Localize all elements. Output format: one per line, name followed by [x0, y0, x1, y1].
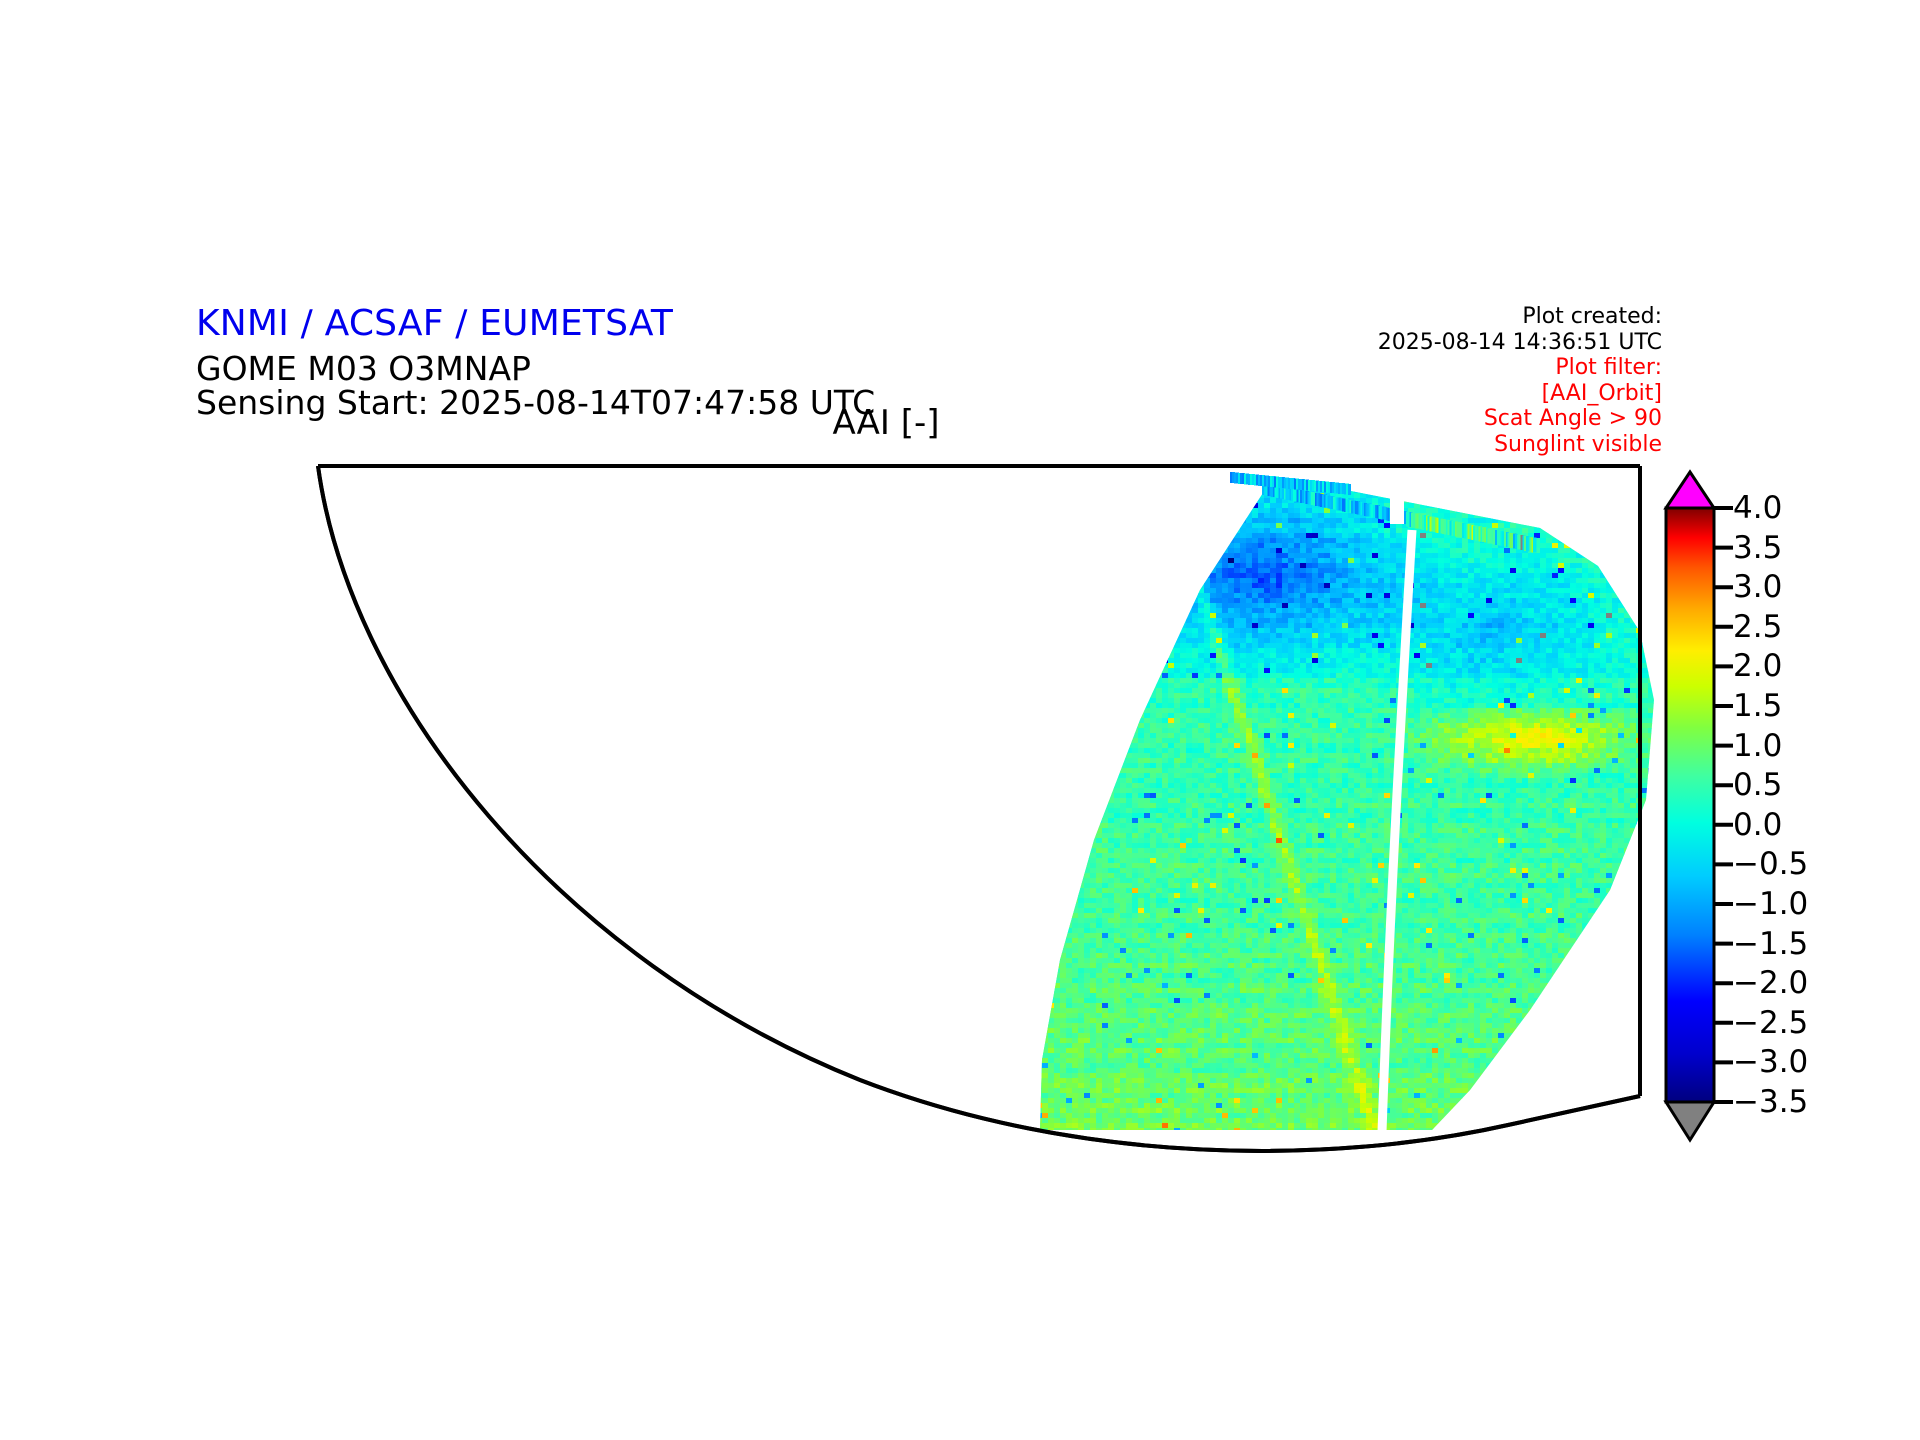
- metadata-block: Plot created: 2025-08-14 14:36:51 UTC Pl…: [1378, 304, 1662, 457]
- colorbar-tick-label: −1.0: [1733, 886, 1808, 922]
- colorbar-gradient: [1666, 508, 1714, 1102]
- colorbar-tick-label: 2.0: [1733, 648, 1782, 684]
- colorbar-tick-label: 1.0: [1733, 728, 1782, 764]
- colorbar-ticks: [1714, 508, 1733, 1102]
- colorbar-tick-label: 0.0: [1733, 807, 1782, 843]
- colorbar-over-arrow: [1666, 472, 1714, 508]
- scat-angle-filter: Scat Angle > 90: [1378, 406, 1662, 432]
- header-left-block: KNMI / ACSAF / EUMETSAT GOME M03 O3MNAP …: [196, 306, 875, 419]
- colorbar-tick-label: 3.0: [1733, 569, 1782, 605]
- colorbar-under-arrow: [1666, 1102, 1714, 1140]
- organisation-title: KNMI / ACSAF / EUMETSAT: [196, 306, 875, 342]
- colorbar-tick-label: 1.5: [1733, 688, 1782, 724]
- plot-canvas: [0, 0, 1920, 1440]
- sensing-start-label: Sensing Start: 2025-08-14T07:47:58 UTC: [196, 386, 875, 419]
- colorbar-tick-label: −0.5: [1733, 846, 1808, 882]
- colorbar-tick-label: −2.0: [1733, 965, 1808, 1001]
- plot-created-value: 2025-08-14 14:36:51 UTC: [1378, 330, 1662, 356]
- colorbar-tick-label: 0.5: [1733, 767, 1782, 803]
- colorbar-tick-label: −2.5: [1733, 1005, 1808, 1041]
- colorbar-tick-label: 3.5: [1733, 530, 1782, 566]
- sunglint-filter: Sunglint visible: [1378, 432, 1662, 458]
- plot-filter-value: [AAI_Orbit]: [1378, 381, 1662, 407]
- plot-filter-label: Plot filter:: [1378, 355, 1662, 381]
- colorbar-tick-label: −1.5: [1733, 926, 1808, 962]
- colorbar: [1666, 472, 1733, 1140]
- swath-pixel-grid: [1030, 468, 1673, 1144]
- colorbar-tick-label: 2.5: [1733, 609, 1782, 645]
- colorbar-tick-label: −3.5: [1733, 1084, 1808, 1120]
- plot-created-label: Plot created:: [1378, 304, 1662, 330]
- colorbar-tick-labels: 4.03.53.02.52.01.51.00.50.0−0.5−1.0−1.5−…: [1733, 470, 1873, 1110]
- instrument-label: GOME M03 O3MNAP: [196, 352, 875, 385]
- colorbar-tick-label: 4.0: [1733, 490, 1782, 526]
- colorbar-tick-label: −3.0: [1733, 1044, 1808, 1080]
